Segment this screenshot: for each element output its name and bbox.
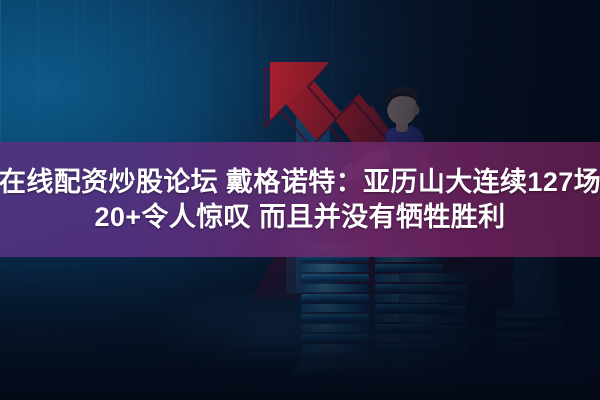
headline-band: 在线配资炒股论坛 戴格诺特：亚历山大连续127场 20+令人惊叹 而且并没有牺牲… (0, 142, 600, 257)
news-thumbnail-banner: 在线配资炒股论坛 戴格诺特：亚历山大连续127场 20+令人惊叹 而且并没有牺牲… (0, 0, 600, 400)
headline-line-1: 在线配资炒股论坛 戴格诺特：亚历山大连续127场 (0, 165, 600, 200)
headline-line-2: 20+令人惊叹 而且并没有牺牲胜利 (94, 200, 505, 235)
